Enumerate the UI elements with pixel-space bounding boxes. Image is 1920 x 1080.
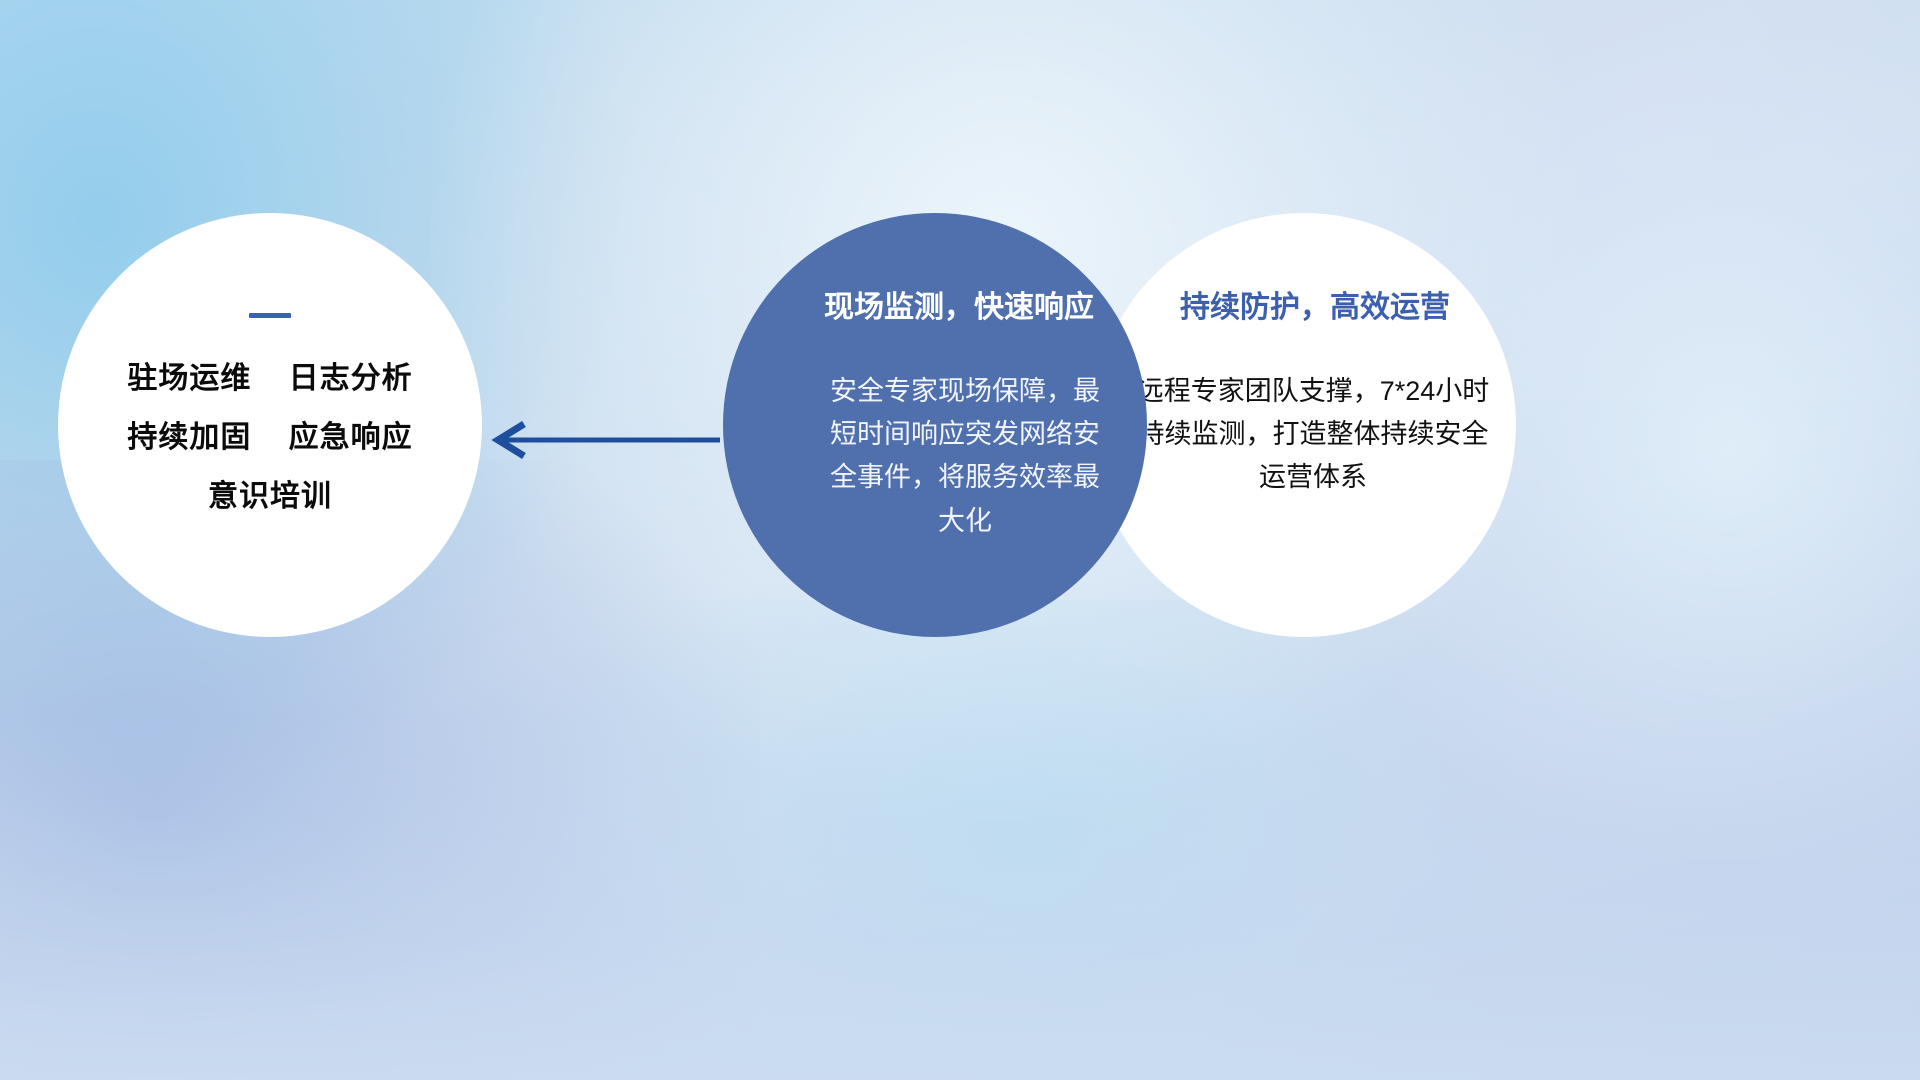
middle-card-body: 安全专家现场保障，最短时间响应突发网络安全事件，将服务效率最大化 (825, 370, 1105, 543)
background-bottom-fade (0, 720, 1920, 1080)
arrow-left-icon (490, 418, 720, 462)
right-card-title: 持续防护，高效运营 (1180, 291, 1450, 324)
list-item: 持续加固 应急响应 (127, 423, 412, 453)
right-card-body: 远程专家团队支撑，7*24小时持续监测，打造整体持续安全运营体系 (1135, 370, 1491, 500)
middle-card-title: 现场监测，快速响应 (824, 291, 1094, 324)
capability-circle-left: 驻场运维 日志分析 持续加固 应急响应 意识培训 (58, 213, 482, 637)
capability-circle-right: 持续防护，高效运营 远程专家团队支撑，7*24小时持续监测，打造整体持续安全运营… (1092, 213, 1516, 637)
capability-list: 驻场运维 日志分析 持续加固 应急响应 意识培训 (127, 364, 412, 512)
slide-canvas: 驻场运维 日志分析 持续加固 应急响应 意识培训 现场监测，快速响应 安全专家现… (0, 0, 1920, 1080)
list-item: 意识培训 (127, 482, 412, 512)
list-item: 驻场运维 日志分析 (127, 364, 412, 394)
capability-circle-middle: 现场监测，快速响应 安全专家现场保障，最短时间响应突发网络安全事件，将服务效率最… (723, 213, 1147, 637)
horizontal-dash-divider-icon (249, 313, 291, 318)
